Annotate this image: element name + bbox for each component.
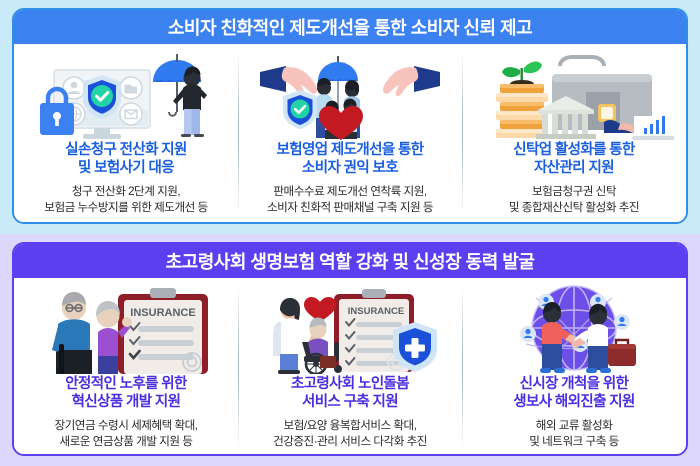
card-title: 보험영업 제도개선을 통한 소비자 권익 보호 xyxy=(277,142,424,178)
card-title: 초고령사회 노인돌봄 서비스 구축 지원 xyxy=(291,376,409,412)
clipboard-label: INSURANCE xyxy=(130,307,195,319)
section-header-title: 초고령사회 생명보험 역할 강화 및 신성장 동력 발굴 xyxy=(166,248,535,274)
hands-family-umbrella-heart-icon xyxy=(244,48,456,140)
elderly-couple-insurance-clipboard-icon: INSURANCE xyxy=(20,282,232,374)
card-row-consumer-trust: 실손청구 전산화 지원 및 보험사기 대응 청구 전산화 2단계 지원, 보험금… xyxy=(14,44,686,222)
card-description: 판매수수료 제도개선 연착륙 지원, 소비자 친화적 판매채널 구축 지원 등 xyxy=(267,184,433,215)
card-retirement-innovation-products[interactable]: INSURANCE xyxy=(14,278,238,455)
monitor-shield-umbrella-icon xyxy=(20,48,232,140)
section-header-bar-consumer-trust: 소비자 친화적인 제도개선을 통한 소비자 신뢰 제고 xyxy=(14,10,686,44)
clipboard-label: INSURANCE xyxy=(348,306,404,317)
card-silson-claim-digitization[interactable]: 실손청구 전산화 지원 및 보험사기 대응 청구 전산화 2단계 지원, 보험금… xyxy=(14,44,238,222)
section-header-title: 소비자 친화적인 제도개선을 통한 소비자 신뢰 제고 xyxy=(168,14,532,40)
card-description: 보험/요양 융복합서비스 확대, 건강증진·관리 서비스 다각화 추진 xyxy=(273,418,427,449)
card-title: 신탁업 활성화를 통한 자산관리 지원 xyxy=(513,142,635,178)
card-description: 해외 교류 활성화 및 네트워크 구축 등 xyxy=(529,418,619,449)
card-title: 안정적인 노후를 위한 혁신상품 개발 지원 xyxy=(65,376,187,412)
panel-aging-society: 초고령사회 생명보험 역할 강화 및 신성장 동력 발굴 INSURANCE xyxy=(12,242,688,456)
card-elderly-care-services[interactable]: INSURANCE xyxy=(238,278,462,455)
card-title: 신시장 개척을 위한 생보사 해외진출 지원 xyxy=(513,376,635,412)
card-overseas-expansion[interactable]: 신시장 개척을 위한 생보사 해외진출 지원 해외 교류 활성화 및 네트워크 … xyxy=(462,278,686,455)
card-title: 실손청구 전산화 지원 및 보험사기 대응 xyxy=(65,142,187,178)
section-aging-society: 초고령사회 생명보험 역할 강화 및 신성장 동력 발굴 INSURANCE xyxy=(0,234,700,466)
caregiver-wheelchair-medical-shield-icon: INSURANCE xyxy=(244,282,456,374)
coins-sprout-briefcase-bank-icon xyxy=(468,48,680,140)
card-insurance-sales-reform[interactable]: 보험영업 제도개선을 통한 소비자 권익 보호 판매수수료 제도개선 연착륙 지… xyxy=(238,44,462,222)
section-header-bar-aging-society: 초고령사회 생명보험 역할 강화 및 신성장 동력 발굴 xyxy=(14,244,686,278)
card-description: 장기연금 수령시 세제혜택 확대, 새로운 연금상품 개발 지원 등 xyxy=(54,418,197,449)
section-consumer-trust: 소비자 친화적인 제도개선을 통한 소비자 신뢰 제고 xyxy=(0,0,700,234)
card-trust-business-activation[interactable]: 신탁업 활성화를 통한 자산관리 지원 보험금청구권 신탁 및 종합재산신탁 활… xyxy=(462,44,686,222)
infographic-root: 소비자 친화적인 제도개선을 통한 소비자 신뢰 제고 xyxy=(0,0,700,466)
panel-consumer-trust: 소비자 친화적인 제도개선을 통한 소비자 신뢰 제고 xyxy=(12,8,688,224)
card-description: 청구 전산화 2단계 지원, 보험금 누수방지를 위한 제도개선 등 xyxy=(44,184,207,215)
handshake-globe-network-icon xyxy=(468,282,680,374)
card-description: 보험금청구권 신탁 및 종합재산신탁 활성화 추진 xyxy=(509,184,639,215)
card-row-aging-society: INSURANCE xyxy=(14,278,686,455)
